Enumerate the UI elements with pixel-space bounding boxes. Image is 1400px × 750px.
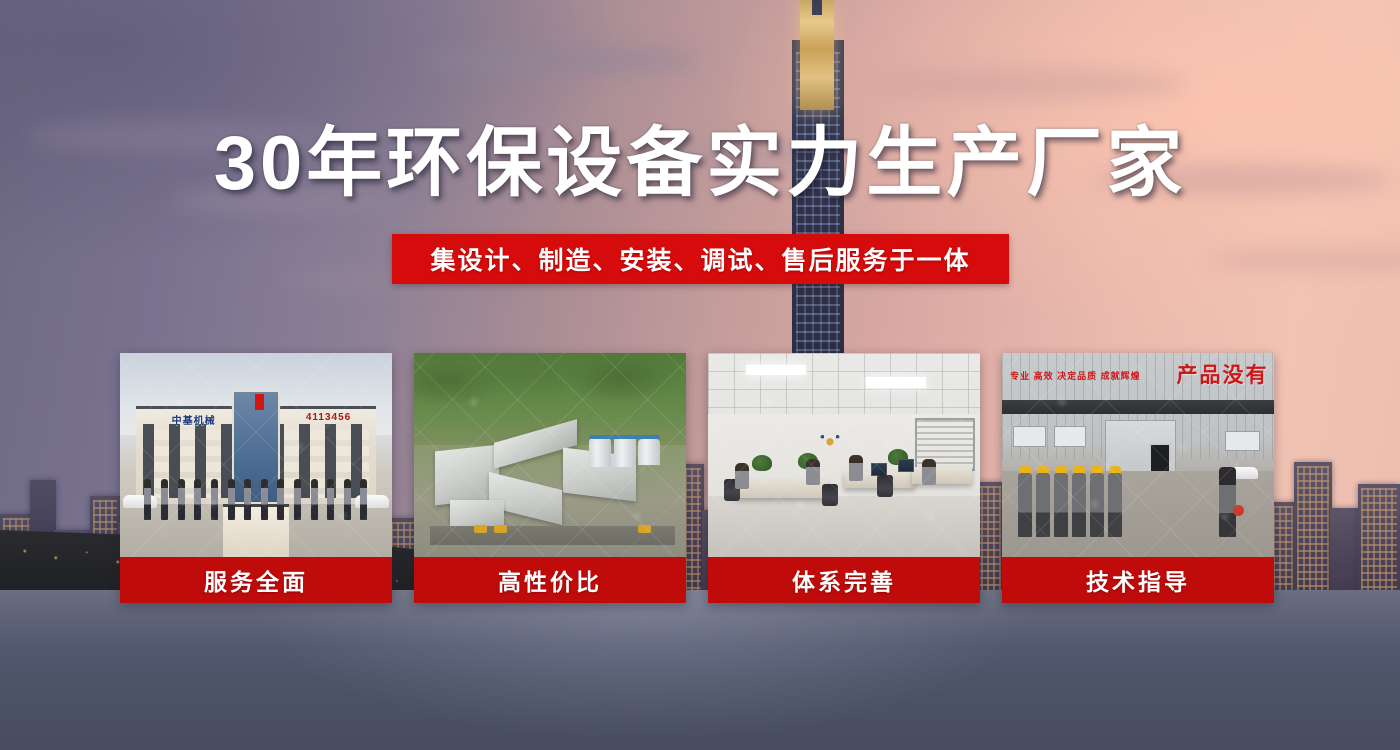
person: [194, 479, 201, 520]
building: [1330, 508, 1360, 600]
worker-line: [1018, 459, 1170, 537]
ceiling-light: [866, 377, 926, 387]
card-caption: 高性价比: [414, 557, 686, 603]
person: [244, 479, 251, 520]
worker-with-hardhat: [1018, 473, 1032, 537]
feature-card[interactable]: 产品没有 专业 高效 决定品质 成就辉煌: [1002, 353, 1274, 603]
person: [311, 479, 318, 520]
office-worker: [806, 459, 820, 485]
worker-with-hardhat: [1054, 473, 1068, 537]
feature-card[interactable]: 体系完善: [708, 353, 980, 603]
card-photo-industrial-plant: [414, 353, 686, 557]
supervisor: [1219, 467, 1236, 536]
card-photo-company-building: 中基机械 4113456: [120, 353, 392, 557]
factory-window-strip: [1002, 400, 1274, 414]
building: [1294, 462, 1332, 600]
company-sign-text: 中基机械: [172, 412, 216, 427]
page-title: 30年环保设备实力生产厂家: [0, 126, 1400, 202]
storage-silo: [638, 439, 660, 465]
storage-silo: [589, 438, 611, 466]
person: [294, 479, 301, 520]
card-caption: 体系完善: [708, 557, 980, 603]
plant-building: [450, 500, 504, 526]
tower-spire: [815, 0, 819, 5]
person: [327, 479, 334, 520]
person: [228, 479, 235, 520]
factory-window: [1013, 426, 1046, 446]
factory-window: [1054, 426, 1087, 446]
office-chair: [877, 475, 893, 497]
excavator: [474, 525, 487, 533]
subtitle-text: 集设计、制造、安装、调试、售后服务于一体: [430, 241, 970, 277]
feature-card-list: 中基机械 4113456: [120, 353, 1276, 603]
subtitle-banner: 集设计、制造、安装、调试、售后服务于一体: [392, 234, 1009, 284]
computer-monitor: [871, 463, 887, 476]
person: [360, 479, 367, 520]
company-phone-text: 4113456: [306, 412, 351, 423]
office-worker: [922, 459, 936, 485]
factory-window: [1225, 431, 1260, 451]
silo-roof: [589, 435, 660, 440]
factory-small-sign-text: 专业 高效 决定品质 成就辉煌: [1010, 371, 1141, 382]
storage-silo: [614, 436, 636, 467]
plant-structures: [430, 426, 675, 544]
card-caption: 技术指导: [1002, 557, 1274, 603]
excavator: [494, 525, 507, 533]
ceiling-light: [746, 365, 806, 375]
card-photo-office-interior: [708, 353, 980, 557]
tower-lit-crown: [800, 0, 834, 110]
computer-monitor: [898, 459, 914, 472]
worker-with-hardhat: [1108, 473, 1122, 537]
factory-big-sign-text: 产品没有: [1177, 359, 1269, 389]
cloud: [420, 45, 700, 75]
worker-with-hardhat: [1036, 473, 1050, 537]
office-worker: [735, 463, 749, 489]
feature-card[interactable]: 中基机械 4113456: [120, 353, 392, 603]
card-photo-factory-workers: 产品没有 专业 高效 决定品质 成就辉煌: [1002, 353, 1274, 557]
feature-card[interactable]: 高性价比: [414, 353, 686, 603]
hero-banner: 30年环保设备实力生产厂家 集设计、制造、安装、调试、售后服务于一体 中基机械 …: [0, 0, 1400, 750]
river-water: [0, 590, 1400, 750]
person: [144, 479, 151, 520]
person: [211, 479, 218, 520]
office-ceiling: [708, 353, 980, 414]
person: [344, 479, 351, 520]
cloud: [868, 68, 1188, 100]
excavator: [638, 525, 651, 533]
person: [161, 479, 168, 520]
person: [261, 479, 268, 520]
worker-with-hardhat: [1072, 473, 1086, 537]
building: [1358, 484, 1400, 600]
staff-group: [144, 479, 367, 520]
office-chair: [822, 484, 838, 506]
card-caption: 服务全面: [120, 557, 392, 603]
water-reflection: [0, 590, 1400, 750]
worker-with-hardhat: [1090, 473, 1104, 537]
person: [277, 479, 284, 520]
person: [178, 479, 185, 520]
wall-decal: [811, 422, 849, 454]
office-worker: [849, 455, 863, 481]
potted-plant: [752, 455, 772, 471]
office-floor: [708, 496, 980, 557]
flag-icon: [255, 394, 264, 410]
desk: [912, 467, 972, 483]
